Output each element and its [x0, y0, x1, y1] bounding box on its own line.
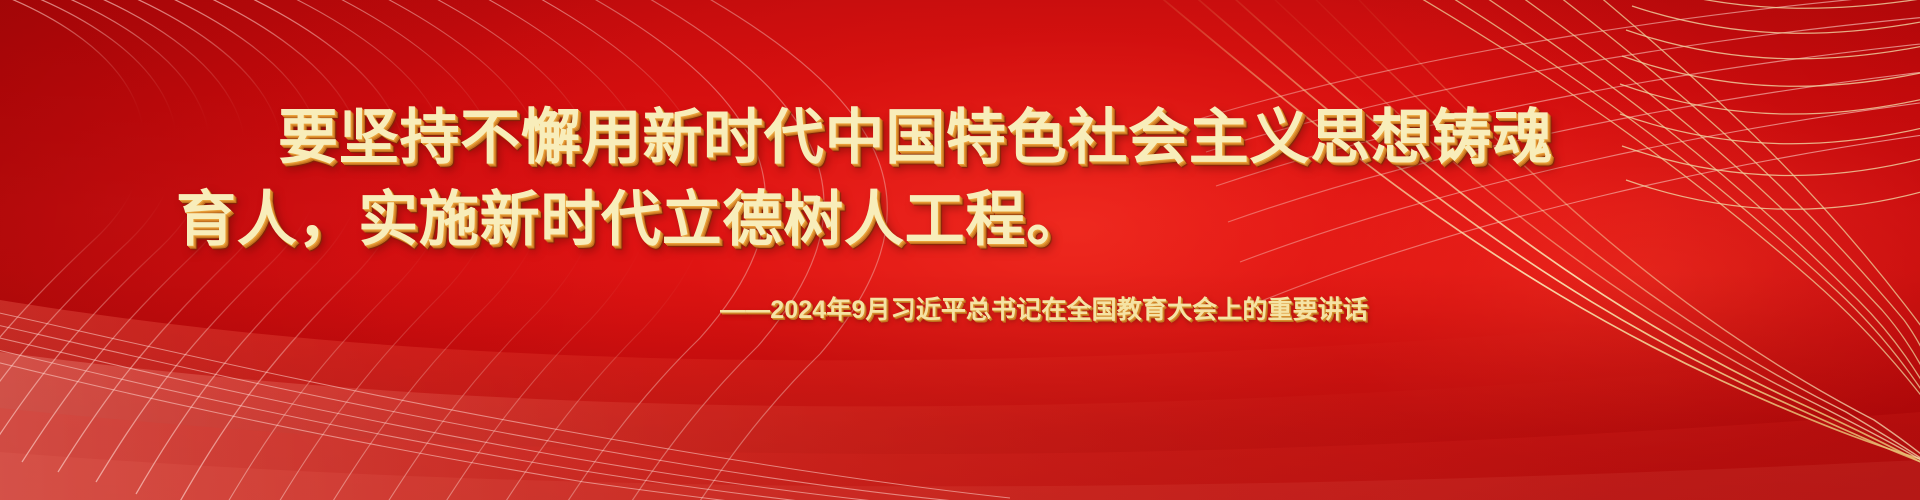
slogan-banner: 要坚持不懈用新时代中国特色社会主义思想铸魂 育人，实施新时代立德树人工程。 ——… [0, 0, 1920, 500]
quote-line-1: 要坚持不懈用新时代中国特色社会主义思想铸魂 [278, 108, 1553, 168]
banner-content: 要坚持不懈用新时代中国特色社会主义思想铸魂 育人，实施新时代立德树人工程。 ——… [0, 0, 1920, 500]
quote-attribution: ——2024年9月习近平总书记在全国教育大会上的重要讲话 [720, 290, 1368, 326]
quote-line-2: 育人，实施新时代立德树人工程。 [176, 190, 1087, 250]
